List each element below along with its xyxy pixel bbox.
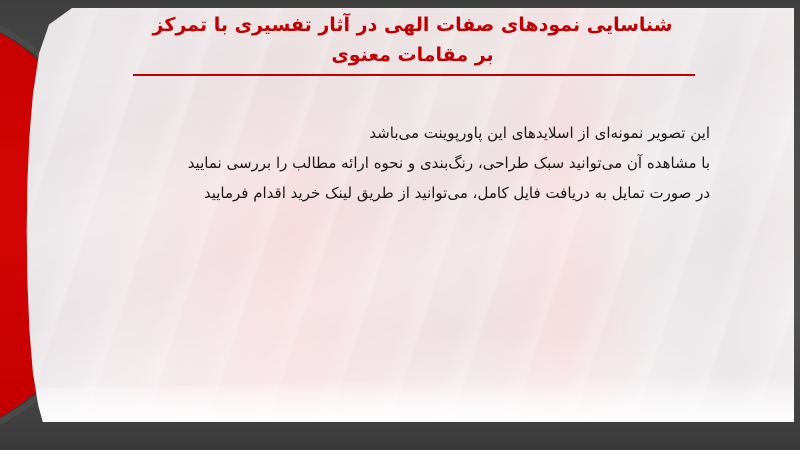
slide-title: شناسایی نمودهای صفات الهی در آثار تفسیری…	[120, 10, 705, 70]
slide-body-text: این تصویر نمونه‌ای از اسلایدهای این پاور…	[150, 118, 710, 208]
title-divider-rule	[133, 74, 695, 76]
presentation-slide: شناسایی نمودهای صفات الهی در آثار تفسیری…	[0, 0, 800, 450]
slide-title-line-1: شناسایی نمودهای صفات الهی در آثار تفسیری…	[120, 10, 705, 40]
panel-gradient-wash	[26, 8, 794, 422]
body-line-3: در صورت تمایل به دریافت فایل کامل، می‌تو…	[150, 178, 710, 208]
panel-bottom-ledge	[26, 376, 794, 422]
slide-title-line-2: بر مقامات معنوی	[120, 40, 705, 70]
panel-diagonal-bands	[26, 8, 794, 422]
body-line-2: با مشاهده آن می‌توانید سبک طراحی، رنگ‌بن…	[150, 148, 710, 178]
content-panel	[26, 8, 794, 422]
body-line-1: این تصویر نمونه‌ای از اسلایدهای این پاور…	[150, 118, 710, 148]
